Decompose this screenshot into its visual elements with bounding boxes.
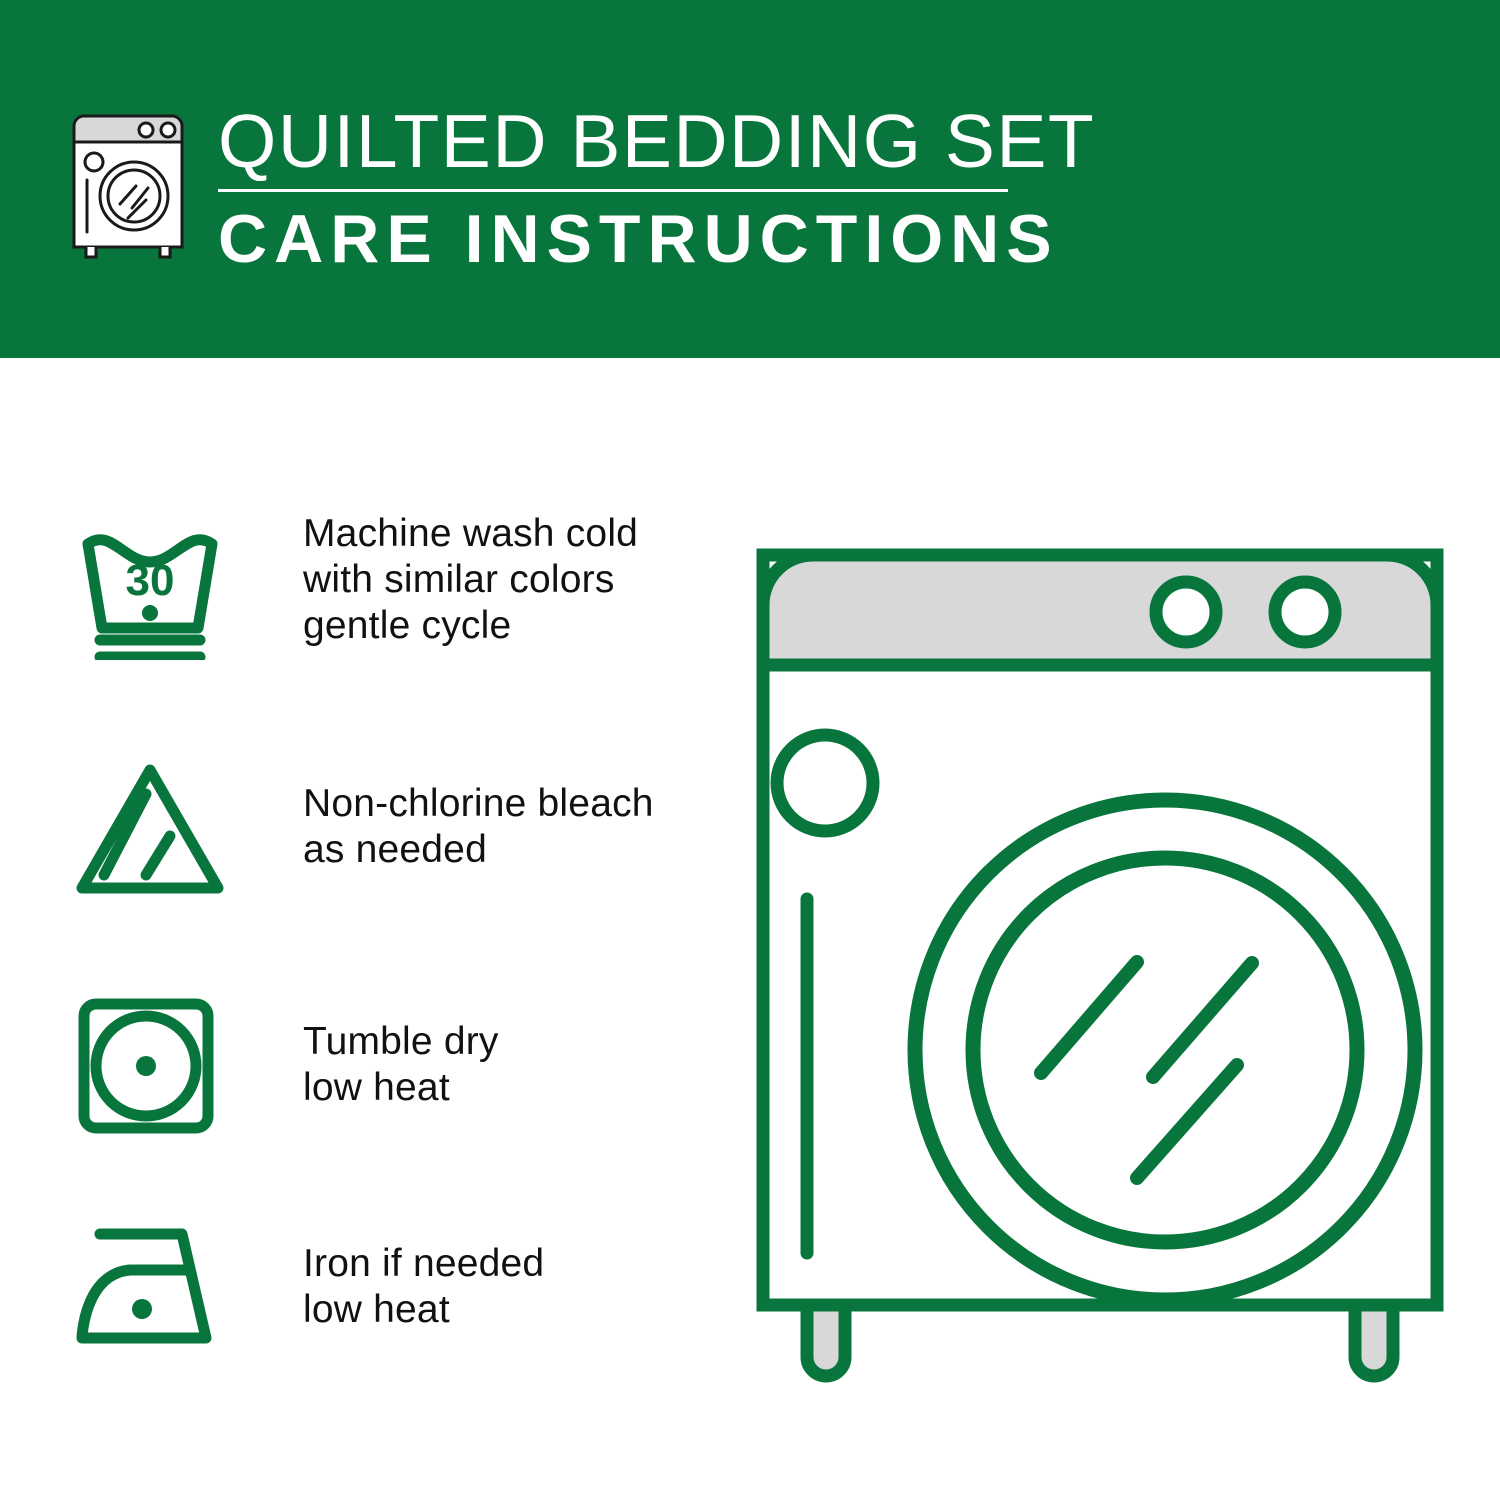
knob-left (1156, 582, 1216, 642)
front-load-washing-machine-illustration (745, 495, 1455, 1425)
tumble-dry-low-icon (70, 990, 240, 1140)
title-divider (218, 189, 1008, 192)
care-line: with similar colors (303, 557, 638, 603)
wash-temperature-label: 30 (126, 556, 175, 605)
care-row-tumble-dry: Tumble dry low heat (70, 990, 730, 1140)
page-subtitle: CARE INSTRUCTIONS (218, 202, 1018, 276)
care-row-machine-wash: 30 Machine wash cold with similar colors… (70, 500, 730, 660)
care-line: Non-chlorine bleach (303, 781, 654, 827)
drum-inner-ring (973, 858, 1357, 1242)
machine-wash-30-gentle-icon: 30 (70, 500, 240, 660)
leg-left (807, 1305, 845, 1376)
care-text-bleach: Non-chlorine bleach as needed (240, 781, 654, 873)
care-line: low heat (303, 1287, 544, 1333)
page-title: QUILTED BEDDING SET (218, 100, 1018, 182)
care-text-iron: Iron if needed low heat (240, 1241, 544, 1333)
care-line: Tumble dry (303, 1019, 499, 1065)
detergent-dispenser (777, 735, 873, 831)
care-line: Machine wash cold (303, 511, 638, 557)
washing-machine-icon (62, 104, 202, 264)
leg-right (1355, 1305, 1393, 1376)
care-text-machine-wash: Machine wash cold with similar colors ge… (240, 511, 638, 649)
care-line: as needed (303, 827, 654, 873)
non-chlorine-bleach-icon (70, 752, 240, 902)
knob-right (1275, 582, 1335, 642)
care-row-bleach: Non-chlorine bleach as needed (70, 752, 730, 902)
care-line: low heat (303, 1065, 499, 1111)
care-line: gentle cycle (303, 603, 638, 649)
care-line: Iron if needed (303, 1241, 544, 1287)
iron-low-heat-icon (70, 1212, 240, 1362)
header-text-block: QUILTED BEDDING SET CARE INSTRUCTIONS (218, 100, 1018, 276)
care-text-tumble-dry: Tumble dry low heat (240, 1019, 499, 1111)
care-instructions-page: QUILTED BEDDING SET CARE INSTRUCTIONS 30 (0, 0, 1500, 1500)
header-banner: QUILTED BEDDING SET CARE INSTRUCTIONS (0, 0, 1500, 358)
care-row-iron: Iron if needed low heat (70, 1212, 730, 1362)
